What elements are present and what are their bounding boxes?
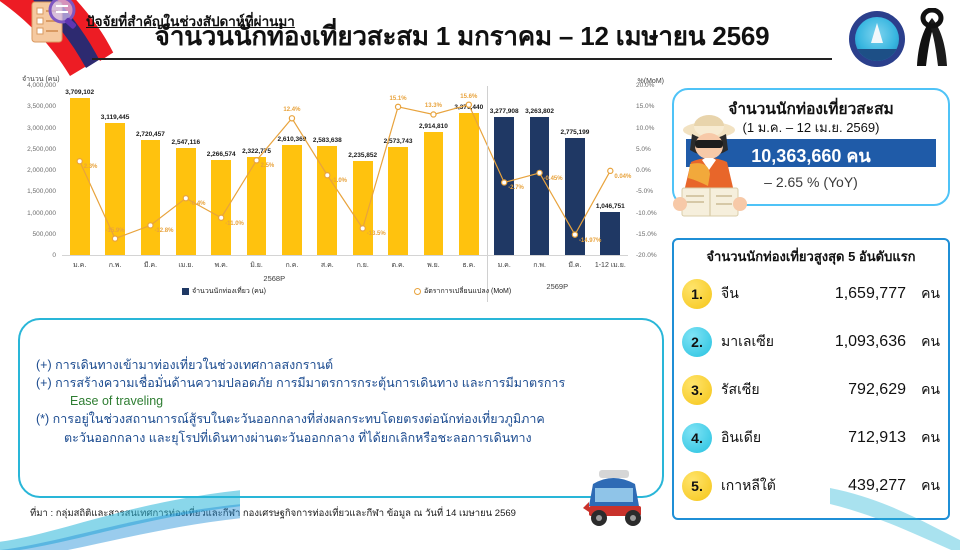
plot-area: 3,709,1023,119,4452,720,4572,547,1162,26… — [62, 86, 628, 256]
bar-value-label: 2,266,574 — [207, 151, 236, 158]
bar-cell: 2,547,116 — [168, 86, 203, 256]
bar — [105, 123, 125, 256]
bar-cell: 2,914,810 — [416, 86, 451, 256]
rank-country-name: เกาหลีใต้ — [721, 475, 807, 497]
y2-tick-label: -20.0% — [636, 252, 657, 259]
bar-value-label: 3,277,908 — [490, 108, 519, 115]
factor-line-1: (+) การเดินทางเข้ามาท่องเที่ยวในช่วงเทศก… — [36, 356, 648, 374]
bar-value-label: 2,322,775 — [242, 148, 271, 155]
bar — [530, 117, 550, 256]
legend-label-mom: อัตราการเปลี่ยนแปลง (MoM) — [424, 286, 511, 297]
bar-cell: 2,266,574 — [204, 86, 239, 256]
bar — [565, 138, 585, 256]
bar-value-label: 2,720,457 — [136, 131, 165, 138]
bar-cell: 2,235,852 — [345, 86, 380, 256]
clipboard-magnifier-icon — [26, 0, 86, 46]
y-tick-label: 1,500,000 — [27, 188, 56, 195]
x-tick-label: ม.ค. — [487, 260, 522, 276]
rank-badge: 4. — [682, 423, 712, 453]
top5-countries-card: จำนวนนักท่องเที่ยวสูงสุด 5 อันดับแรก 1.จ… — [672, 238, 950, 520]
bar-value-label: 2,775,199 — [560, 129, 589, 136]
bar-value-label: 3,119,445 — [101, 114, 130, 121]
bar — [141, 140, 161, 256]
bar-series: 3,709,1023,119,4452,720,4572,547,1162,26… — [62, 86, 628, 256]
key-factors-body: (+) การเดินทางเข้ามาท่องเที่ยวในช่วงเทศก… — [36, 356, 648, 447]
factor-line-3: Ease of traveling — [36, 392, 648, 410]
bar-cell: 2,583,638 — [310, 86, 345, 256]
legend-label-arrivals: จำนวนนักท่องเที่ยว (คน) — [192, 286, 266, 297]
rank-value: 1,659,777 — [807, 285, 906, 303]
bar-cell: 2,610,369 — [274, 86, 309, 256]
bar-cell: 3,277,908 — [487, 86, 522, 256]
bar-value-label: 3,263,802 — [525, 108, 554, 115]
rank-value: 792,629 — [807, 381, 906, 399]
x-axis-line — [62, 255, 628, 256]
rank-country-name: อินเดีย — [721, 427, 807, 449]
bar-value-label: 1,046,751 — [596, 203, 625, 210]
rank-country-name: มาเลเซีย — [721, 331, 807, 353]
tourist-arrivals-chart: จำนวน (คน) %(MoM) 4,000,0003,500,0003,00… — [16, 74, 666, 300]
bar-value-label: 2,583,638 — [313, 137, 342, 144]
secondary-y-axis-ticks: 20.0%15.0%10.0%5.0%0.0%-5.0%-10.0%-15.0%… — [630, 86, 666, 256]
rank-badge: 5. — [682, 471, 712, 501]
bar — [353, 161, 373, 256]
bar-cell: 2,775,199 — [557, 86, 592, 256]
y2-tick-label: 0.0% — [636, 167, 651, 174]
ranking-title: จำนวนนักท่องเที่ยวสูงสุด 5 อันดับแรก — [674, 246, 948, 267]
ministry-seal-icon — [849, 11, 905, 67]
bar-value-label: 2,235,852 — [348, 152, 377, 159]
bar-cell: 1,046,751 — [593, 86, 628, 256]
infographic-page: จำนวนนักท่องเที่ยวสะสม 1 มกราคม – 12 เมษ… — [0, 0, 960, 540]
bar-value-label: 3,709,102 — [65, 89, 94, 96]
tourist-with-map-illustration — [666, 104, 752, 226]
bar-cell: 2,322,775 — [239, 86, 274, 256]
bar — [70, 98, 90, 256]
x-tick-label: ก.พ. — [522, 260, 557, 276]
y2-tick-label: -10.0% — [636, 210, 657, 217]
rank-value: 712,913 — [807, 429, 906, 447]
bar — [494, 117, 514, 256]
bar-cell: 3,263,802 — [522, 86, 557, 256]
legend-item-arrivals: จำนวนนักท่องเที่ยว (คน) — [182, 286, 266, 297]
rank-unit: คน — [906, 427, 940, 449]
y2-tick-label: -5.0% — [636, 188, 653, 195]
y2-tick-label: 15.0% — [636, 103, 654, 110]
bar — [176, 148, 196, 256]
bar — [317, 146, 337, 256]
title-divider — [92, 58, 832, 60]
y-tick-label: 0 — [52, 252, 56, 259]
rank-badge: 2. — [682, 327, 712, 357]
y2-tick-label: -15.0% — [636, 231, 657, 238]
y2-tick-label: 5.0% — [636, 146, 651, 153]
factor-line-5: ตะวันออกกลาง และยุโรปที่เดินทางผ่านตะวัน… — [36, 429, 648, 447]
rank-unit: คน — [906, 475, 940, 497]
ranking-row: 4.อินเดีย712,913คน — [682, 418, 940, 458]
ranking-row: 1.จีน1,659,777คน — [682, 274, 940, 314]
chart-legend: จำนวนนักท่องเที่ยว (คน) อัตราการเปลี่ยนแ… — [62, 286, 628, 300]
ranking-list: 1.จีน1,659,777คน2.มาเลเซีย1,093,636คน3.ร… — [682, 270, 940, 510]
bar — [211, 160, 231, 256]
bar-value-label: 2,914,810 — [419, 123, 448, 130]
ranking-row: 2.มาเลเซีย1,093,636คน — [682, 322, 940, 362]
bar — [600, 212, 620, 256]
y2-tick-label: 10.0% — [636, 125, 654, 132]
bar-cell: 3,119,445 — [97, 86, 132, 256]
ranking-row: 3.รัสเซีย792,629คน — [682, 370, 940, 410]
bar — [459, 113, 479, 256]
rank-value: 1,093,636 — [807, 333, 906, 351]
y-axis-ticks: 4,000,0003,500,0003,000,0002,500,0002,00… — [16, 86, 60, 256]
rank-unit: คน — [906, 331, 940, 353]
y-tick-label: 1,000,000 — [27, 210, 56, 217]
rank-value: 439,277 — [807, 477, 906, 495]
source-note: ที่มา : กลุ่มสถิติและสารสนเทศการท่องเที่… — [30, 506, 516, 521]
legend-circle-icon — [414, 288, 421, 295]
bar-cell: 2,720,457 — [133, 86, 168, 256]
rank-badge: 3. — [682, 375, 712, 405]
period-label-2568: 2568P — [62, 274, 487, 283]
x-tick-label: มี.ค. — [557, 260, 592, 276]
bar-value-label: 3,370,440 — [454, 104, 483, 111]
bar-value-label: 2,547,116 — [172, 139, 201, 146]
bar — [424, 132, 444, 256]
y-tick-label: 4,000,000 — [27, 82, 56, 89]
bar-cell: 2,573,743 — [380, 86, 415, 256]
rank-country-name: รัสเซีย — [721, 379, 807, 401]
tuk-tuk-illustration — [575, 462, 653, 528]
ranking-row: 5.เกาหลีใต้439,277คน — [682, 466, 940, 506]
bar-cell: 3,370,440 — [451, 86, 486, 256]
bar — [282, 145, 302, 256]
y-tick-label: 2,500,000 — [27, 146, 56, 153]
y-tick-label: 3,000,000 — [27, 125, 56, 132]
key-factors-title: ปัจจัยที่สำคัญในช่วงสัปดาห์ที่ผ่านมา — [86, 10, 295, 32]
y2-tick-label: 20.0% — [636, 82, 654, 89]
black-mourning-ribbon-icon — [912, 8, 952, 70]
legend-item-mom: อัตราการเปลี่ยนแปลง (MoM) — [414, 286, 511, 297]
key-factors-card: (+) การเดินทางเข้ามาท่องเที่ยวในช่วงเทศก… — [18, 318, 664, 498]
bar-cell: 3,709,102 — [62, 86, 97, 256]
rank-unit: คน — [906, 283, 940, 305]
factor-line-4: (*) การอยู่ในช่วงสถานการณ์สู้รบในตะวันออ… — [36, 410, 648, 428]
y-tick-label: 500,000 — [33, 231, 57, 238]
y-tick-label: 3,500,000 — [27, 103, 56, 110]
rank-country-name: จีน — [721, 283, 807, 305]
legend-square-icon — [182, 288, 189, 295]
bar-value-label: 2,573,743 — [384, 138, 413, 145]
rank-unit: คน — [906, 379, 940, 401]
factor-line-2: (+) การสร้างความเชื่อมั่นด้านความปลอดภัย… — [36, 374, 648, 392]
rank-badge: 1. — [682, 279, 712, 309]
y-tick-label: 2,000,000 — [27, 167, 56, 174]
bar — [388, 147, 408, 256]
bar-value-label: 2,610,369 — [277, 136, 306, 143]
bar — [247, 157, 267, 256]
x-tick-label: 1-12 เม.ย. — [593, 260, 628, 276]
